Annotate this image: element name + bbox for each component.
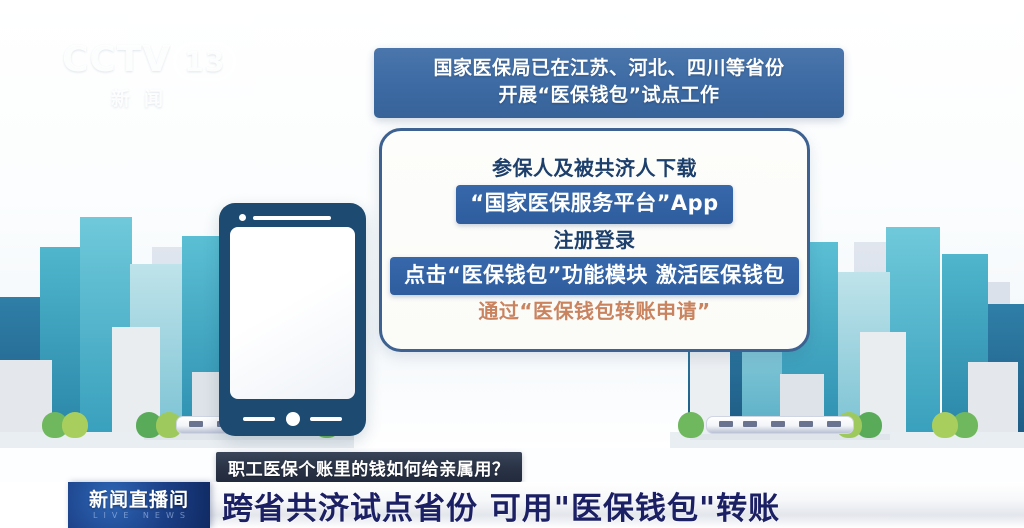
steps-panel: 参保人及被共济人下载“国家医保服务平台”App注册登录点击“医保钱包”功能模块 … [379, 128, 810, 352]
program-live-label: LIVE NEWS [87, 510, 191, 521]
phone-screen [230, 227, 355, 399]
program-name: 新闻直播间 [89, 490, 189, 510]
tree [932, 412, 958, 438]
headline-container: 跨省共济试点省份 可用"医保钱包"转账 [222, 482, 780, 528]
panel-step-1: 参保人及被共济人下载 [492, 156, 697, 181]
panel-step-5: 通过“医保钱包转账申请” [478, 299, 710, 324]
headline-text: 跨省共济试点省份 可用"医保钱包"转账 [222, 483, 780, 528]
phone-camera-dot [239, 214, 246, 221]
panel-step-4: 点击“医保钱包”功能模块 激活医保钱包 [390, 257, 798, 295]
phone-bottom-bar-right [310, 417, 342, 421]
ticker-left-edge [0, 482, 68, 528]
program-logo-block: 新闻直播间 LIVE NEWS [68, 482, 210, 528]
panel-step-2: “国家医保服务平台”App [456, 185, 732, 223]
lower-third-ticker: 新闻直播间 LIVE NEWS 跨省共济试点省份 可用"医保钱包"转账 [0, 482, 1024, 528]
broadcast-frame: CCTV13 新闻 国家医保局已在江苏、河北、四川等省份 开展“医保钱包”试点工… [0, 0, 1024, 528]
info-banner: 国家医保局已在江苏、河北、四川等省份 开展“医保钱包”试点工作 [374, 48, 844, 118]
train [706, 416, 854, 434]
smartphone-illustration [219, 203, 366, 436]
phone-bottom-bar-left [243, 417, 275, 421]
banner-line-2: 开展“医保钱包”试点工作 [384, 82, 834, 109]
tree [678, 412, 704, 438]
lower-third-subtitle-text: 职工医保个账里的钱如何给亲属用？ [228, 455, 510, 480]
phone-speaker-slot [253, 216, 331, 220]
tree [62, 412, 88, 438]
phone-home-button [286, 412, 300, 426]
banner-line-1: 国家医保局已在江苏、河北、四川等省份 [384, 55, 834, 82]
lower-third-subtitle-bar: 职工医保个账里的钱如何给亲属用？ [216, 452, 522, 482]
panel-step-3: 注册登录 [554, 228, 636, 253]
